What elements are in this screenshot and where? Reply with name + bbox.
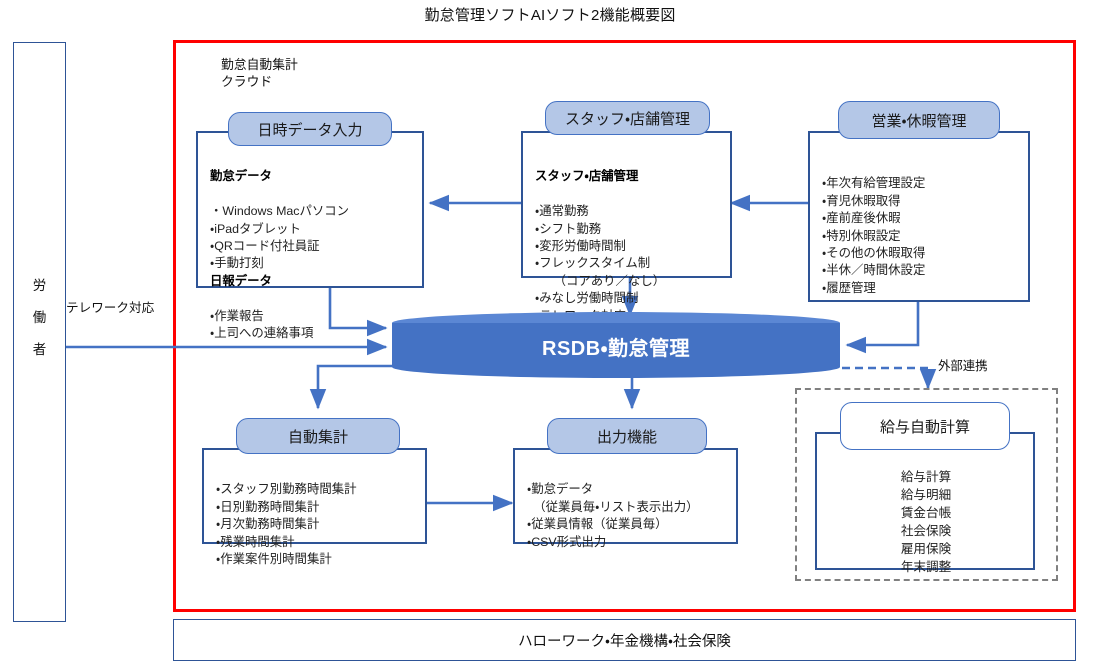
panel-output-function-body: ・勤怠データ （従業員毎・リスト表示出力） ・従業員情報（従業員毎） ・CSV形… [515, 450, 736, 559]
panel-header-auto-aggregation[interactable]: 自動集計 [236, 418, 400, 454]
worker-char-3: 者 [13, 334, 66, 366]
staff-store-section-title: スタッフ・店舗管理 [535, 168, 720, 185]
worker-char-2: 働 [13, 302, 66, 334]
sales-leave-items: ・年次有給管理設定 ・育児休暇取得 ・産前産後休暇 ・特別休暇設定 ・その他の休… [822, 176, 925, 294]
auto-aggregation-items: ・スタッフ別勤務時間集計 ・日別勤務時間集計 ・月次勤務時間集計 ・残業時間集計… [216, 482, 357, 566]
database-label: RSDB・勤怠管理 [392, 324, 840, 368]
panel-output-function: ・勤怠データ （従業員毎・リスト表示出力） ・従業員情報（従業員毎） ・CSV形… [513, 448, 738, 544]
panel-header-payroll-auto-calculation[interactable]: 給与自動計算 [840, 402, 1010, 450]
worker-char-1: 労 [13, 270, 66, 302]
daily-input-section2-title: 日報データ [210, 273, 412, 290]
cloud-caption: 勤怠自動集計 クラウド [221, 56, 298, 90]
panel-header-daily-data-input[interactable]: 日時データ入力 [228, 112, 392, 146]
external-agencies-label: ハローワーク・年金機構・社会保険 [518, 630, 731, 651]
panel-auto-aggregation-body: ・スタッフ別勤務時間集計 ・日別勤務時間集計 ・月次勤務時間集計 ・残業時間集計… [204, 450, 425, 576]
payroll-items: 給与計算 給与明細 賃金台帳 社会保険 雇用保険 年末調整 [817, 434, 1033, 584]
daily-input-section1-items: ・Windows Macパソコン ・iPadタブレット ・QRコード付社員証 ・… [210, 204, 349, 270]
daily-input-section2-items: ・作業報告 ・上司への連絡事項 [210, 309, 313, 340]
panel-staff-store-management: スタッフ・店舗管理 ・通常勤務 ・シフト勤務 ・変形労働時間制 ・フレックスタイ… [521, 131, 732, 278]
panel-staff-store-body: スタッフ・店舗管理 ・通常勤務 ・シフト勤務 ・変形労働時間制 ・フレックスタイ… [523, 133, 730, 333]
database-cylinder: RSDB・勤怠管理 [392, 312, 840, 374]
panel-header-output-function[interactable]: 出力機能 [547, 418, 707, 454]
panel-payroll-auto-calculation: 給与計算 給与明細 賃金台帳 社会保険 雇用保険 年末調整 [815, 432, 1035, 570]
telework-arrow-label: テレワーク対応 [66, 297, 154, 316]
external-link-label: 外部連携 [938, 356, 988, 374]
diagram-canvas: 勤怠管理ソフトAIソフト2機能概要図 労 働 者 テレワーク対応 勤怠自動集計 … [0, 0, 1100, 663]
panel-sales-leave-management: ・年次有給管理設定 ・育児休暇取得 ・産前産後休暇 ・特別休暇設定 ・その他の休… [808, 131, 1030, 302]
output-function-items: ・勤怠データ （従業員毎・リスト表示出力） ・従業員情報（従業員毎） ・CSV形… [527, 482, 698, 548]
page-title: 勤怠管理ソフトAIソフト2機能概要図 [0, 4, 1100, 25]
panel-auto-aggregation: ・スタッフ別勤務時間集計 ・日別勤務時間集計 ・月次勤務時間集計 ・残業時間集計… [202, 448, 427, 544]
panel-header-sales-leave-management[interactable]: 営業・休暇管理 [838, 101, 1000, 139]
panel-daily-data-input-body: 勤怠データ ・Windows Macパソコン ・iPadタブレット ・QRコード… [198, 133, 422, 350]
external-agencies-bar: ハローワーク・年金機構・社会保険 [173, 619, 1076, 661]
panel-daily-data-input: 勤怠データ ・Windows Macパソコン ・iPadタブレット ・QRコード… [196, 131, 424, 288]
staff-store-items: ・通常勤務 ・シフト勤務 ・変形労働時間制 ・フレックスタイム制 （コアあり／な… [535, 204, 665, 322]
panel-sales-leave-body: ・年次有給管理設定 ・育児休暇取得 ・産前産後休暇 ・特別休暇設定 ・その他の休… [810, 133, 1028, 305]
worker-column-label: 労 働 者 [13, 270, 66, 366]
panel-header-staff-store-management[interactable]: スタッフ・店舗管理 [545, 101, 710, 135]
daily-input-section1-title: 勤怠データ [210, 168, 412, 185]
